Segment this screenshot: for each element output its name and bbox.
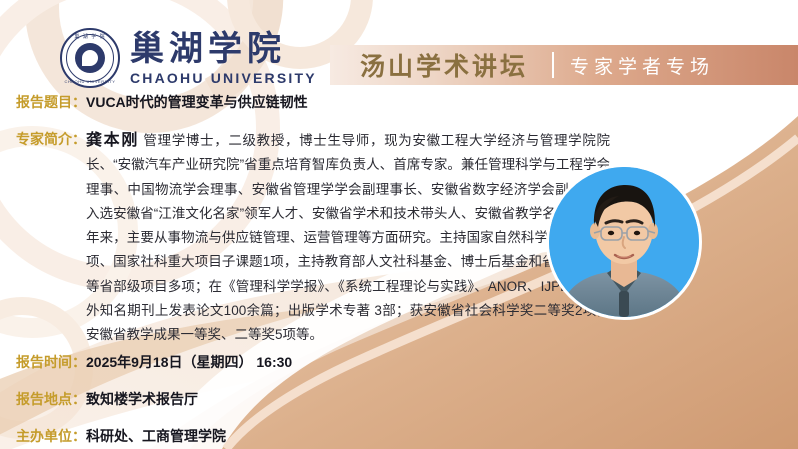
detail-label-organizer: 主办单位： [16,426,86,446]
report-title-row: 报告题目： VUCA时代的管理变革与供应链韧性 [0,92,798,112]
poster-root: 巢 湖 学 院 CHAOHU UNIVERSITY 巢湖学院 CHAOHU UN… [0,0,798,449]
portrait-photo [549,167,699,317]
series-subtitle: 专家学者专场 [570,52,714,79]
detail-label-location: 报告地点： [16,389,86,409]
university-name-cn: 巢湖学院 [130,32,317,66]
report-title-value: VUCA时代的管理变革与供应链韧性 [86,92,308,112]
university-name-en: CHAOHU UNIVERSITY [130,71,317,85]
university-crest-icon: 巢 湖 学 院 CHAOHU UNIVERSITY [60,28,120,88]
report-title-label: 报告题目： [16,92,86,112]
series-ribbon: 汤山学术讲坛 专家学者专场 [330,45,798,85]
speaker-portrait [549,167,699,317]
speaker-name: 龚本刚 [86,132,139,149]
detail-row-organizer: 主办单位： 科研处、工商管理学院 [0,426,798,446]
ribbon-divider [552,52,554,78]
crest-emblem [75,43,105,73]
brand-text-block: 巢湖学院 CHAOHU UNIVERSITY [130,32,317,85]
detail-value-organizer: 科研处、工商管理学院 [86,426,226,446]
detail-row-time: 报告时间： 2025年9月18日（星期四） 16:30 [0,352,798,372]
detail-label-time: 报告时间： [16,352,86,372]
speaker-bio-body: 龚本刚 管理学博士，二级教授，博士生导师，现为安徽工程大学经济与管理学院院长、“… [86,129,610,348]
detail-value-time: 2025年9月18日（星期四） 16:30 [86,352,292,372]
series-title: 汤山学术讲坛 [360,47,528,83]
poster-header: 巢 湖 学 院 CHAOHU UNIVERSITY 巢湖学院 CHAOHU UN… [0,0,798,98]
event-details: 报告时间： 2025年9月18日（星期四） 16:30 报告地点： 致知楼学术报… [0,352,798,449]
speaker-bio-label: 专家简介： [16,129,86,149]
crest-bottom-text: CHAOHU UNIVERSITY [65,79,116,84]
detail-row-location: 报告地点： 致知楼学术报告厅 [0,389,798,409]
detail-value-location: 致知楼学术报告厅 [86,389,198,409]
university-brand: 巢 湖 学 院 CHAOHU UNIVERSITY 巢湖学院 CHAOHU UN… [60,28,317,88]
speaker-bio-text: 管理学博士，二级教授，博士生导师，现为安徽工程大学经济与管理学院院长、“安徽汽车… [86,133,610,342]
